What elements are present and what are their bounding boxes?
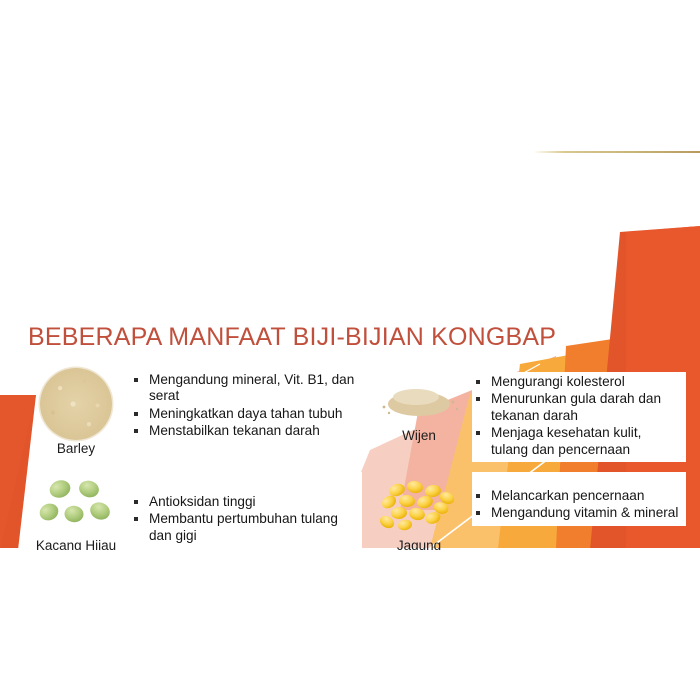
list-item: Mengandung mineral, Vit. B1, dan serat [132, 372, 356, 405]
list-item: Membantu pertumbuhan tulang dan gigi [132, 511, 356, 544]
page-title: BEBERAPA MANFAAT BIJI-BIJIAN KONGBAP [28, 323, 556, 352]
barley-thumb-wrap: Barley [22, 368, 130, 457]
mung-bean-icon [37, 476, 115, 537]
list-item: Mengandung vitamin & mineral [474, 505, 680, 521]
top-right-gold-rule [535, 151, 700, 153]
jagung-benefits: Melancarkan pencernaan Mengandung vitami… [472, 472, 686, 526]
left-column: Barley Mengandung mineral, Vit. B1, dan … [22, 368, 362, 550]
item-wijen: Wijen Mengurangi kolesterol Menurunkan g… [366, 372, 686, 472]
kacang-hijau-thumb-wrap: Kacang Hijau [22, 472, 130, 550]
item-jagung: Jagung Melancarkan pencernaan Mengandung… [366, 472, 686, 550]
wijen-caption: Wijen [402, 429, 436, 444]
list-item: Menurunkan gula darah dan tekanan darah [474, 391, 680, 424]
wijen-thumb-wrap: Wijen [366, 372, 472, 444]
corn-kernels-icon [375, 478, 463, 539]
kacang-hijau-caption: Kacang Hijau [36, 539, 116, 550]
wijen-benefits: Mengurangi kolesterol Menurunkan gula da… [472, 372, 686, 462]
jagung-caption: Jagung [397, 539, 441, 550]
kacang-hijau-benefits: Antioksidan tinggi Membantu pertumbuhan … [130, 472, 362, 548]
infographic-root: BEBERAPA MANFAAT BIJI-BIJIAN KONGBAP Bar… [0, 0, 700, 700]
list-item: Meningkatkan daya tahan tubuh [132, 406, 356, 422]
list-item: Menstabilkan tekanan darah [132, 423, 356, 439]
list-item: Antioksidan tinggi [132, 494, 356, 510]
barley-bowl-icon [40, 368, 112, 440]
sesame-pile-icon [376, 380, 462, 425]
list-item: Melancarkan pencernaan [474, 488, 680, 504]
item-kacang-hijau: Kacang Hijau Antioksidan tinggi Membantu… [22, 472, 362, 550]
barley-caption: Barley [57, 442, 95, 457]
list-item: Menjaga kesehatan kulit, tulang dan penc… [474, 425, 680, 458]
item-barley: Barley Mengandung mineral, Vit. B1, dan … [22, 368, 362, 472]
content-card: BEBERAPA MANFAAT BIJI-BIJIAN KONGBAP Bar… [0, 150, 700, 550]
right-column: Wijen Mengurangi kolesterol Menurunkan g… [366, 372, 686, 550]
jagung-thumb-wrap: Jagung [366, 472, 472, 550]
barley-benefits: Mengandung mineral, Vit. B1, dan serat M… [130, 368, 362, 444]
list-item: Mengurangi kolesterol [474, 374, 680, 390]
